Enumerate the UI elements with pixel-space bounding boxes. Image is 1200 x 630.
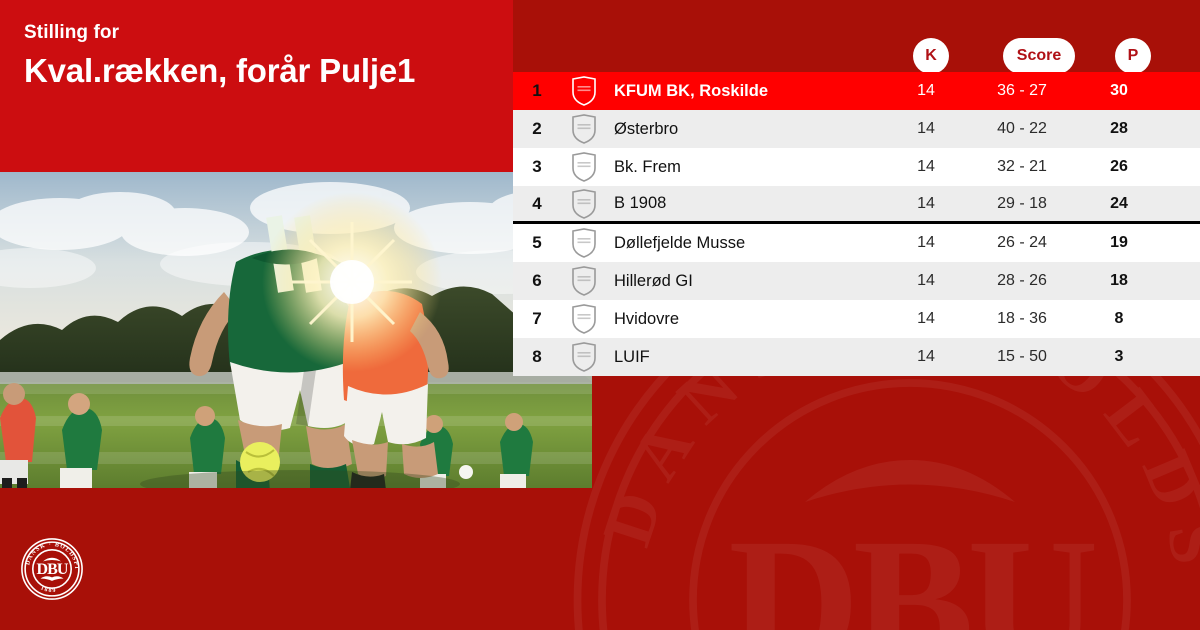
row-team-name: KFUM BK, Roskilde [607, 82, 898, 101]
header-band: Stilling for Kval.rækken, forår Pulje1 [0, 0, 513, 172]
column-header-score: Score [1003, 38, 1075, 74]
club-crest-icon [561, 76, 607, 106]
row-score: 29 - 18 [962, 195, 1082, 213]
row-score: 26 - 24 [962, 234, 1082, 252]
row-points: 18 [1082, 272, 1156, 290]
row-played: 14 [890, 120, 962, 138]
row-rank: 7 [513, 309, 561, 329]
svg-text:1889: 1889 [39, 585, 57, 594]
standings-table: 1 KFUM BK, Roskilde1436 - 27302 Østerbro… [513, 72, 1200, 376]
row-points: 28 [1082, 120, 1156, 138]
row-rank: 5 [513, 233, 561, 253]
club-crest-icon [561, 189, 607, 219]
row-team-name: Døllefjelde Musse [607, 234, 898, 253]
svg-text:DBU: DBU [37, 561, 69, 578]
row-team-name: Hvidovre [607, 310, 898, 329]
row-points: 30 [1082, 82, 1156, 100]
column-header-points: P [1115, 38, 1151, 74]
row-points: 24 [1082, 195, 1156, 213]
row-team-name: B 1908 [607, 194, 898, 213]
row-played: 14 [890, 348, 962, 366]
table-column-headers: K Score P [0, 38, 1200, 76]
football-photo [0, 172, 592, 488]
row-played: 14 [890, 158, 962, 176]
table-row[interactable]: 2 Østerbro1440 - 2228 [513, 110, 1200, 148]
row-points: 3 [1082, 348, 1156, 366]
row-score: 32 - 21 [962, 158, 1082, 176]
row-played: 14 [890, 310, 962, 328]
club-crest-icon [561, 152, 607, 182]
club-crest-icon [561, 304, 607, 334]
svg-text:DBU: DBU [728, 502, 1094, 630]
row-rank: 4 [513, 194, 561, 214]
row-played: 14 [890, 82, 962, 100]
row-team-name: Hillerød GI [607, 272, 898, 291]
row-points: 19 [1082, 234, 1156, 252]
row-rank: 3 [513, 157, 561, 177]
row-rank: 8 [513, 347, 561, 367]
table-row[interactable]: 1 KFUM BK, Roskilde1436 - 2730 [513, 72, 1200, 110]
row-rank: 6 [513, 271, 561, 291]
table-row[interactable]: 6 Hillerød GI1428 - 2618 [513, 262, 1200, 300]
club-crest-icon [561, 114, 607, 144]
row-score: 18 - 36 [962, 310, 1082, 328]
row-played: 14 [890, 234, 962, 252]
dbu-logo: DANSK · BOLDSPIL · UNION 1889 DBU [20, 537, 84, 601]
row-rank: 2 [513, 119, 561, 139]
row-points: 26 [1082, 158, 1156, 176]
row-team-name: Bk. Frem [607, 158, 898, 177]
table-row[interactable]: 7 Hvidovre1418 - 368 [513, 300, 1200, 338]
row-team-name: LUIF [607, 348, 898, 367]
column-header-played: K [913, 38, 949, 74]
club-crest-icon [561, 342, 607, 372]
club-crest-icon [561, 266, 607, 296]
table-row[interactable]: 3 Bk. Frem1432 - 2126 [513, 148, 1200, 186]
club-crest-icon [561, 228, 607, 258]
table-row[interactable]: 5 Døllefjelde Musse1426 - 2419 [513, 224, 1200, 262]
row-score: 15 - 50 [962, 348, 1082, 366]
row-played: 14 [890, 272, 962, 290]
table-row[interactable]: 4 B 19081429 - 1824 [513, 186, 1200, 224]
row-played: 14 [890, 195, 962, 213]
row-score: 28 - 26 [962, 272, 1082, 290]
row-rank: 1 [513, 81, 561, 101]
row-team-name: Østerbro [607, 120, 898, 139]
row-score: 40 - 22 [962, 120, 1082, 138]
row-points: 8 [1082, 310, 1156, 328]
row-score: 36 - 27 [962, 82, 1082, 100]
table-row[interactable]: 8 LUIF1415 - 503 [513, 338, 1200, 376]
